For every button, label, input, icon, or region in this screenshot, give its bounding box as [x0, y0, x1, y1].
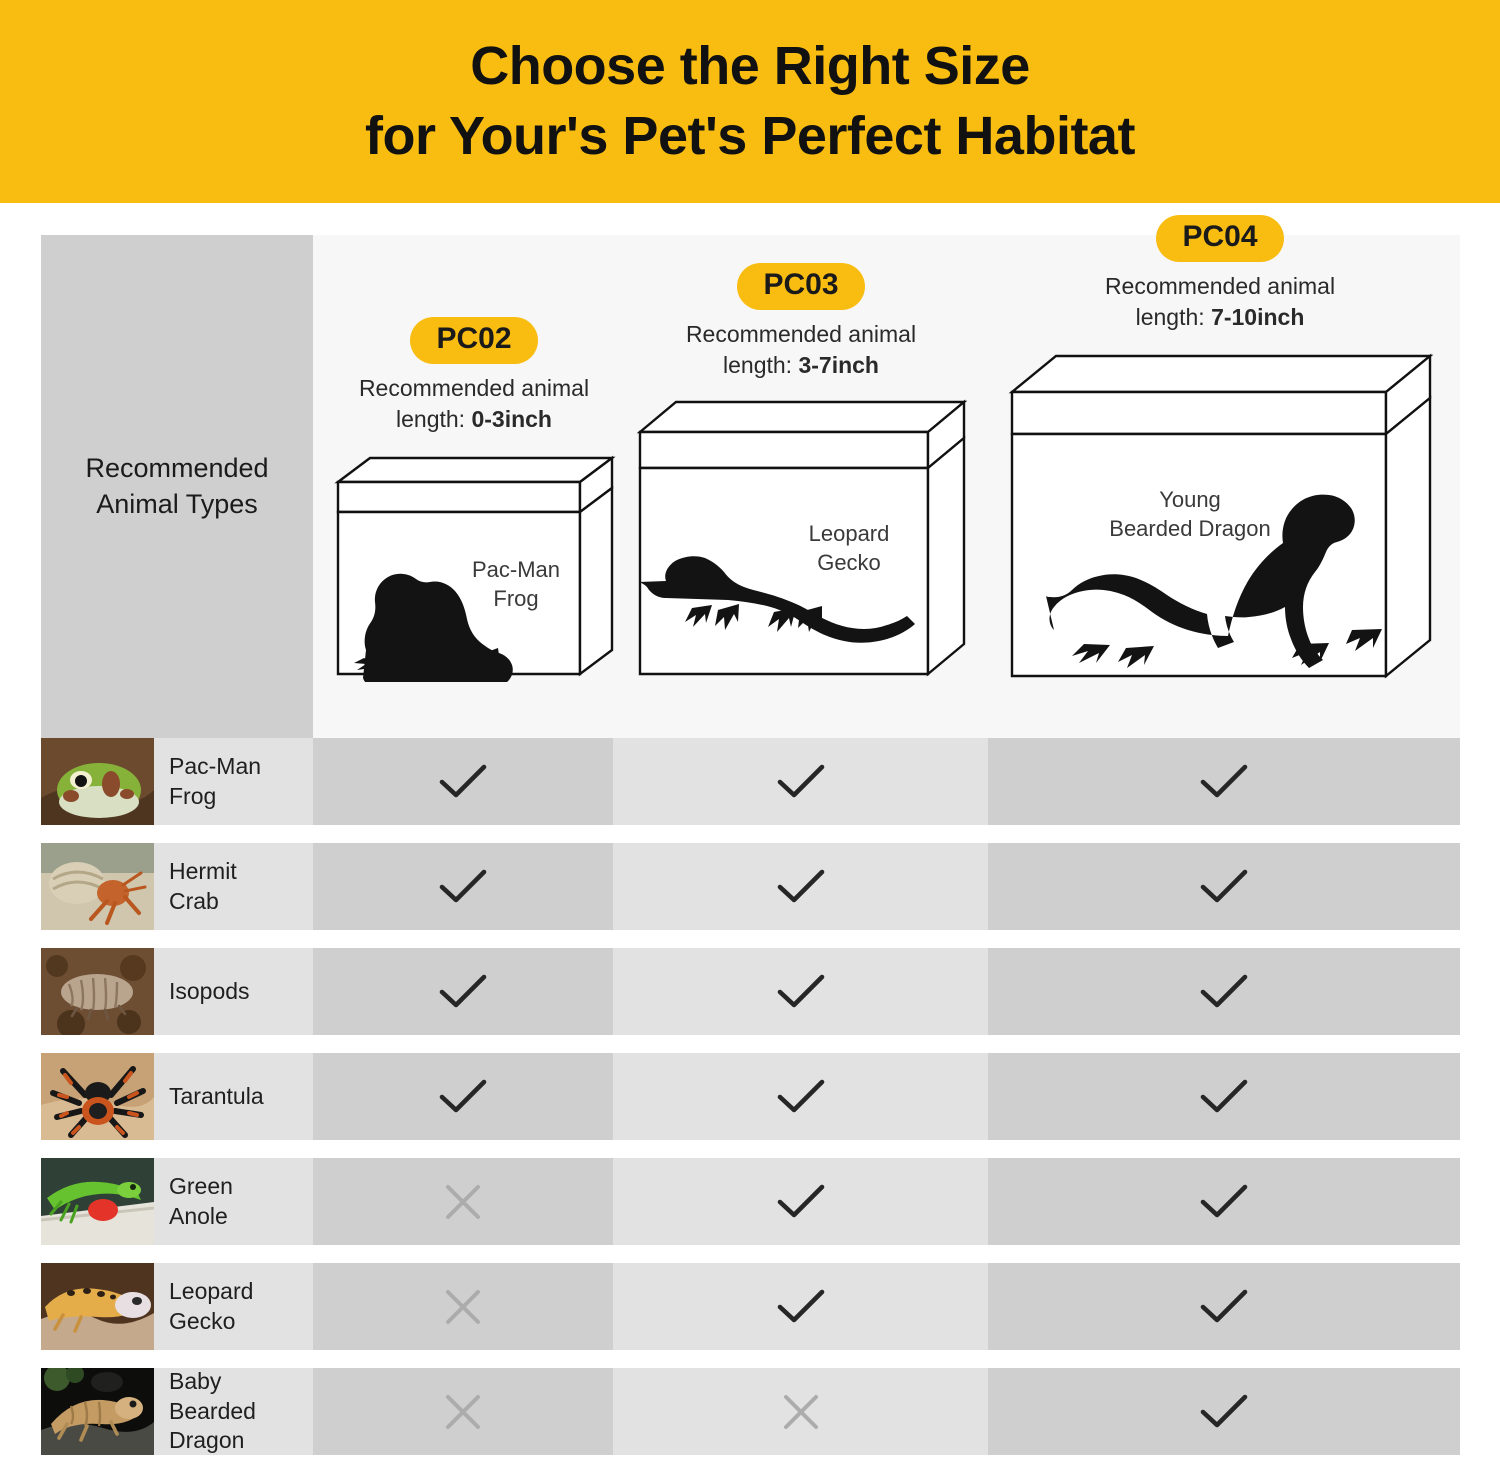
cell-pc03 [613, 843, 988, 930]
row-thumbnail [41, 1263, 154, 1350]
row-thumbnail [41, 843, 154, 930]
cross-icon [440, 1389, 486, 1435]
cell-pc02 [313, 1053, 613, 1140]
cell-pc04 [988, 738, 1460, 825]
check-icon [436, 972, 490, 1012]
table-row: Baby Bearded Dragon [41, 1368, 1460, 1455]
pac-man-frog-photo [41, 738, 154, 825]
cross-icon [440, 1284, 486, 1330]
cell-pc03 [613, 738, 988, 825]
table-row: Green Anole [41, 1158, 1460, 1245]
terrarium-label-pc02: Pac-Man Frog [448, 556, 584, 613]
check-icon [774, 1077, 828, 1117]
check-icon [436, 762, 490, 802]
table-row: Hermit Crab [41, 843, 1460, 930]
rec-value-pc02: 0-3inch [471, 406, 552, 432]
product-pill-pc03: PC03 [737, 263, 864, 310]
check-icon [1197, 1392, 1251, 1432]
cell-pc02 [313, 948, 613, 1035]
terrarium-box-pc04: Young Bearded Dragon [1000, 348, 1440, 684]
row-label: Pac-Man Frog [154, 738, 313, 825]
cell-pc04 [988, 1368, 1460, 1455]
check-icon [774, 762, 828, 802]
cell-pc03 [613, 1263, 988, 1350]
cell-pc03 [613, 1158, 988, 1245]
product-group-pc02: PC02 Recommended animal length: 0-3inch [330, 317, 618, 682]
cell-pc04 [988, 843, 1460, 930]
isopods-photo [41, 948, 154, 1035]
rec-value-pc03: 3-7inch [798, 352, 879, 378]
product-recommendation-pc02: Recommended animal length: 0-3inch [330, 373, 618, 436]
row-thumbnail [41, 1053, 154, 1140]
check-icon [1197, 1287, 1251, 1327]
check-icon [774, 1182, 828, 1222]
page-banner: Choose the Right Size for Your's Pet's P… [0, 0, 1500, 203]
cell-pc02 [313, 738, 613, 825]
row-label: Leopard Gecko [154, 1263, 313, 1350]
cell-pc04 [988, 948, 1460, 1035]
cell-pc03 [613, 1368, 988, 1455]
terrarium-box-pc03: Leopard Gecko [632, 396, 970, 682]
row-label: Green Anole [154, 1158, 313, 1245]
row-thumbnail [41, 948, 154, 1035]
product-group-pc04: PC04 Recommended animal length: 7-10inch… [1000, 215, 1440, 684]
cell-pc02 [313, 1158, 613, 1245]
leopard-gecko-photo [41, 1263, 154, 1350]
comparison-table-rows: Pac-Man Frog [41, 738, 1460, 1469]
cell-pc03 [613, 1053, 988, 1140]
product-group-pc03: PC03 Recommended animal length: 3-7inch … [632, 263, 970, 682]
left-column-header: Recommended Animal Types [41, 235, 313, 738]
comparison-section: Recommended Animal Types PC02 Recommende… [0, 203, 1500, 1469]
check-icon [436, 867, 490, 907]
check-icon [774, 1287, 828, 1327]
check-icon [1197, 1077, 1251, 1117]
product-recommendation-pc04: Recommended animal length: 7-10inch [1000, 271, 1440, 334]
left-column-header-label: Recommended Animal Types [41, 451, 313, 522]
product-pill-pc04: PC04 [1156, 215, 1283, 262]
row-thumbnail [41, 1368, 154, 1455]
hermit-crab-photo [41, 843, 154, 930]
check-icon [1197, 1182, 1251, 1222]
cell-pc02 [313, 843, 613, 930]
table-row: Leopard Gecko [41, 1263, 1460, 1350]
tarantula-photo [41, 1053, 154, 1140]
check-icon [1197, 972, 1251, 1012]
check-icon [1197, 762, 1251, 802]
terrarium-label-pc04: Young Bearded Dragon [1074, 486, 1306, 543]
banner-title-line-1: Choose the Right Size [470, 32, 1030, 101]
table-row: Isopods [41, 948, 1460, 1035]
baby-bearded-dragon-photo [41, 1368, 154, 1455]
cell-pc02 [313, 1263, 613, 1350]
check-icon [1197, 867, 1251, 907]
banner-title-line-2: for Your's Pet's Perfect Habitat [365, 102, 1135, 171]
row-label: Hermit Crab [154, 843, 313, 930]
cell-pc02 [313, 1368, 613, 1455]
table-row: Pac-Man Frog [41, 738, 1460, 825]
cell-pc04 [988, 1263, 1460, 1350]
check-icon [436, 1077, 490, 1117]
check-icon [774, 972, 828, 1012]
cross-icon [778, 1389, 824, 1435]
check-icon [774, 867, 828, 907]
green-anole-photo [41, 1158, 154, 1245]
terrarium-box-pc02: Pac-Man Frog [330, 450, 618, 682]
row-thumbnail [41, 1158, 154, 1245]
terrarium-label-pc03: Leopard Gecko [774, 520, 924, 577]
table-row: Tarantula [41, 1053, 1460, 1140]
row-label: Baby Bearded Dragon [154, 1368, 313, 1455]
product-pill-pc02: PC02 [410, 317, 537, 364]
rec-value-pc04: 7-10inch [1211, 304, 1304, 330]
cell-pc03 [613, 948, 988, 1035]
row-thumbnail [41, 738, 154, 825]
row-label: Tarantula [154, 1053, 313, 1140]
cell-pc04 [988, 1158, 1460, 1245]
cross-icon [440, 1179, 486, 1225]
product-recommendation-pc03: Recommended animal length: 3-7inch [632, 319, 970, 382]
cell-pc04 [988, 1053, 1460, 1140]
row-label: Isopods [154, 948, 313, 1035]
